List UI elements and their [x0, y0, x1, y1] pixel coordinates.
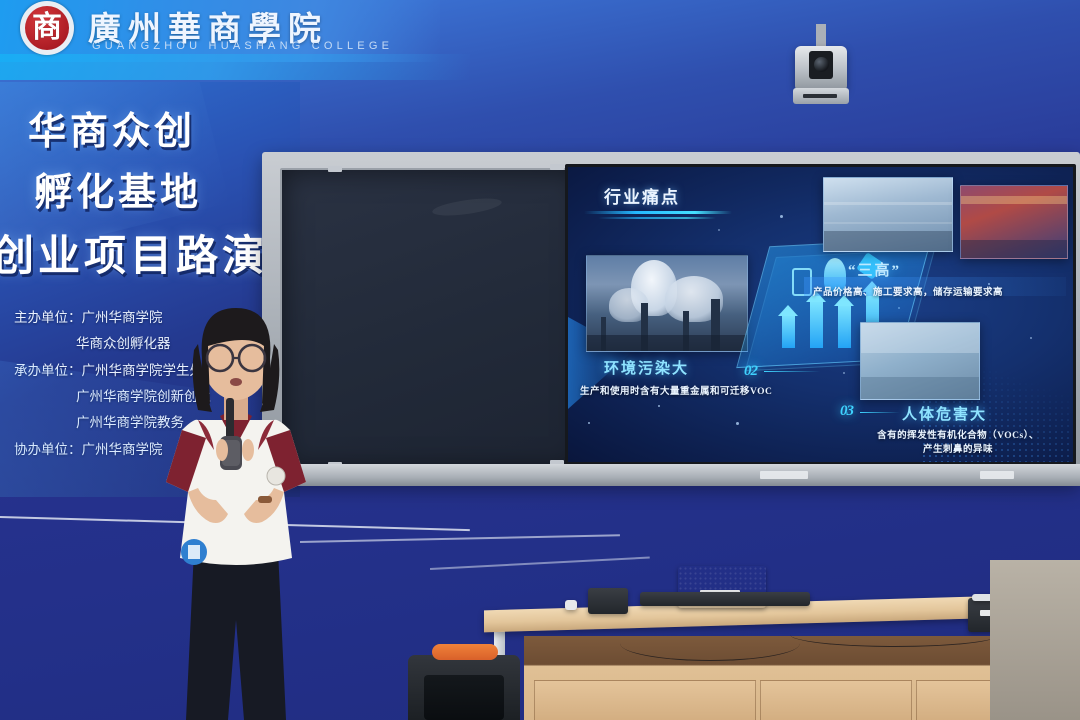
slide-caption-01: 环境污染大 [604, 357, 689, 378]
venue-header-band-secondary [0, 54, 470, 80]
desk-device-keyboard-tray[interactable] [640, 592, 810, 606]
slide-detail-03-line2: 产生刺鼻的异味 [868, 443, 1048, 457]
banner-title-line-1: 华商众创 [28, 100, 300, 155]
floor-area [990, 560, 1080, 720]
chalkboard-glare [431, 195, 502, 219]
power-cable-2 [790, 622, 1000, 647]
slide-detail-02: 产品价格高、施工要求高，储存运输要求高 [813, 284, 1003, 298]
portable-speaker [408, 655, 520, 720]
board-ledge [262, 464, 1080, 486]
slide-detail-03-line1: 含有的挥发性有机化合物（VOCs）、 [868, 429, 1048, 443]
ceiling-wire-2 [300, 534, 620, 542]
camera-face [809, 51, 833, 79]
slide-image-emergency-drill [960, 185, 1068, 259]
camera-vent [803, 94, 837, 98]
camera-base [793, 88, 849, 104]
banner-title-line-3: 创业项目路演 [0, 222, 300, 283]
camera-lens-icon [814, 57, 829, 72]
credit-label: 协办单位： [14, 442, 82, 457]
college-logo: 商 [16, 1, 90, 57]
slide-title-underline-2 [598, 217, 716, 219]
slide-detail-01: 生产和使用时含有大量重金属和可迁移VOC [580, 383, 772, 397]
cabinet-door[interactable] [534, 680, 756, 720]
speaker-handle[interactable] [432, 644, 498, 660]
board-clip [550, 164, 564, 170]
desk-device-white-cube [565, 600, 577, 610]
power-cable [620, 626, 800, 661]
slide-image-factory [823, 177, 953, 252]
board-clip [328, 166, 342, 172]
slide-detail-03: 含有的挥发性有机化合物（VOCs）、 产生刺鼻的异味 [868, 429, 1048, 458]
slide-point-number-02: 02 [744, 363, 757, 380]
slide-image-pollution [586, 255, 748, 352]
slide-point-number-03: 03 [840, 403, 853, 420]
desk-device-small-box[interactable] [588, 588, 628, 614]
ceiling-wire-3 [430, 556, 650, 569]
banner-title-line-2: 孵化基地 [34, 161, 300, 216]
college-name-en: GUANGZHOU HUASHANG COLLEGE [92, 40, 393, 52]
slide-image-odor [860, 322, 980, 400]
slide-caption-03: 人体危害大 [902, 403, 987, 424]
classroom-photo-scene: 商 廣州華商學院 GUANGZHOU HUASHANG COLLEGE 华商众创… [0, 0, 1080, 720]
slide-title: 行业痛点 [604, 183, 680, 208]
logo-glyph: 商 [25, 6, 69, 50]
credit-label: 主办单位： [14, 310, 82, 325]
slide-title-underline [584, 211, 732, 214]
cabinet-door[interactable] [760, 680, 912, 720]
ledge-sticker [760, 471, 808, 479]
presentation-screen[interactable]: 行业痛点 01 环境污染大 生产和使用时含有大量重金属和可迁移VOC [565, 164, 1076, 465]
ptz-camera-icon [795, 46, 847, 90]
ledge-sticker [980, 471, 1014, 479]
credit-label: 承办单位： [14, 363, 82, 378]
presenter-figure [136, 300, 336, 720]
speaker-horn [424, 675, 504, 720]
whiteboard-frame: 行业痛点 01 环境污染大 生产和使用时含有大量重金属和可迁移VOC [262, 152, 1080, 484]
